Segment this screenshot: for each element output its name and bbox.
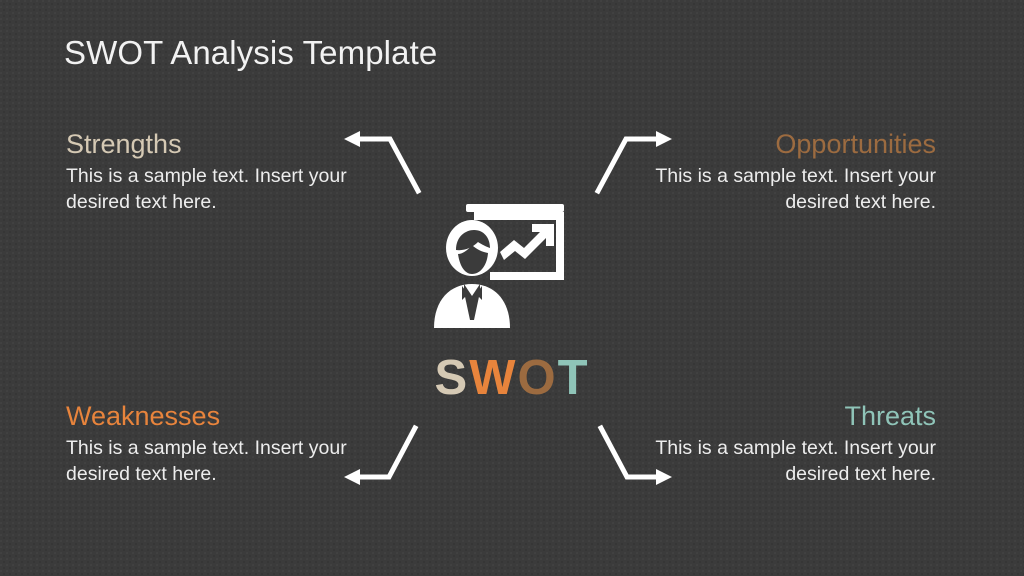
quadrant-weaknesses[interactable]: Weaknesses This is a sample text. Insert… <box>66 402 366 488</box>
quadrant-opportunities[interactable]: Opportunities This is a sample text. Ins… <box>634 130 936 216</box>
quadrant-body-weaknesses: This is a sample text. Insert your desir… <box>66 436 366 488</box>
quadrant-heading-strengths: Strengths <box>66 130 366 159</box>
quadrant-threats[interactable]: Threats This is a sample text. Insert yo… <box>634 402 936 488</box>
swot-letter-o: O <box>517 351 557 405</box>
quadrant-heading-threats: Threats <box>634 402 936 431</box>
swot-letter-t: T <box>558 351 590 405</box>
swot-letter-s: S <box>435 351 470 405</box>
quadrant-heading-opportunities: Opportunities <box>634 130 936 159</box>
quadrant-body-strengths: This is a sample text. Insert your desir… <box>66 164 366 216</box>
quadrant-heading-weaknesses: Weaknesses <box>66 402 366 431</box>
quadrant-body-threats: This is a sample text. Insert your desir… <box>634 436 936 488</box>
swot-letter-w: W <box>469 351 517 405</box>
presenter-growth-chart-icon <box>428 196 588 336</box>
swot-acronym: SWOT <box>0 350 1024 406</box>
swot-slide: SWOT Analysis Template Strengths This is… <box>0 0 1024 576</box>
quadrant-strengths[interactable]: Strengths This is a sample text. Insert … <box>66 130 366 216</box>
quadrant-body-opportunities: This is a sample text. Insert your desir… <box>634 164 936 216</box>
page-title: SWOT Analysis Template <box>64 34 437 72</box>
